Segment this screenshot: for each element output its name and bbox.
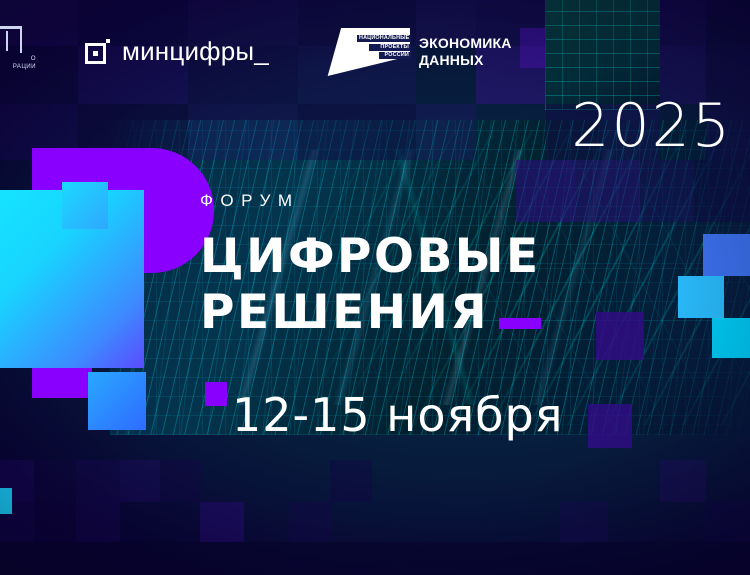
mark-top-dot xyxy=(106,39,110,43)
emblem-text-line1: О xyxy=(0,55,38,63)
title-line-2: РЕШЕНИЯ xyxy=(200,289,489,336)
government-emblem: О РАЦИИ xyxy=(0,26,38,78)
flag-text-block: НАЦИОНАЛЬНЫЕ ПРОЕКТЫ РОССИИ xyxy=(357,35,407,61)
title-line-1: ЦИФРОВЫЕ xyxy=(200,233,541,280)
title-line-2-row: РЕШЕНИЯ xyxy=(200,289,541,336)
nacproekty-logo: НАЦИОНАЛЬНЫЕ ПРОЕКТЫ РОССИИ ЭКОНОМИКА ДА… xyxy=(326,28,512,76)
mincifry-wordmark: минцифры_ xyxy=(122,38,269,64)
nacproekty-caption: ЭКОНОМИКА ДАННЫХ xyxy=(419,35,512,69)
emblem-crest-icon xyxy=(0,26,22,53)
nacproekty-flag-icon: НАЦИОНАЛЬНЫЕ ПРОЕКТЫ РОССИИ xyxy=(326,28,410,76)
kicker-label: ФОРУМ xyxy=(200,192,541,209)
emblem-text-line2: РАЦИИ xyxy=(0,63,38,71)
title-underscore-accent xyxy=(499,318,541,329)
forum-promo-banner: О РАЦИИ минцифры_ НАЦИОНАЛЬНЫЕ ПРОЕКТЫ Р… xyxy=(0,0,750,575)
date-accent-square xyxy=(205,382,227,406)
headline-block: ФОРУМ ЦИФРОВЫЕ РЕШЕНИЯ xyxy=(200,192,541,336)
flag-line-2: ПРОЕКТЫ xyxy=(369,44,411,51)
flag-line-1: НАЦИОНАЛЬНЫЕ xyxy=(357,35,411,42)
caption-line-2: ДАННЫХ xyxy=(419,52,512,69)
r-logo-cyan-small-square xyxy=(62,182,108,229)
caption-line-1: ЭКОНОМИКА xyxy=(419,35,512,52)
year-label: 2025 xyxy=(571,96,732,156)
mincifry-square-mark-icon xyxy=(85,39,110,64)
event-date: 12-15 ноября xyxy=(232,392,563,438)
r-logo-cyan-lower-square xyxy=(88,372,146,430)
mincifry-logo: минцифры_ xyxy=(85,38,269,64)
flag-line-3: РОССИИ xyxy=(379,52,411,59)
mark-center-dot xyxy=(93,51,98,56)
